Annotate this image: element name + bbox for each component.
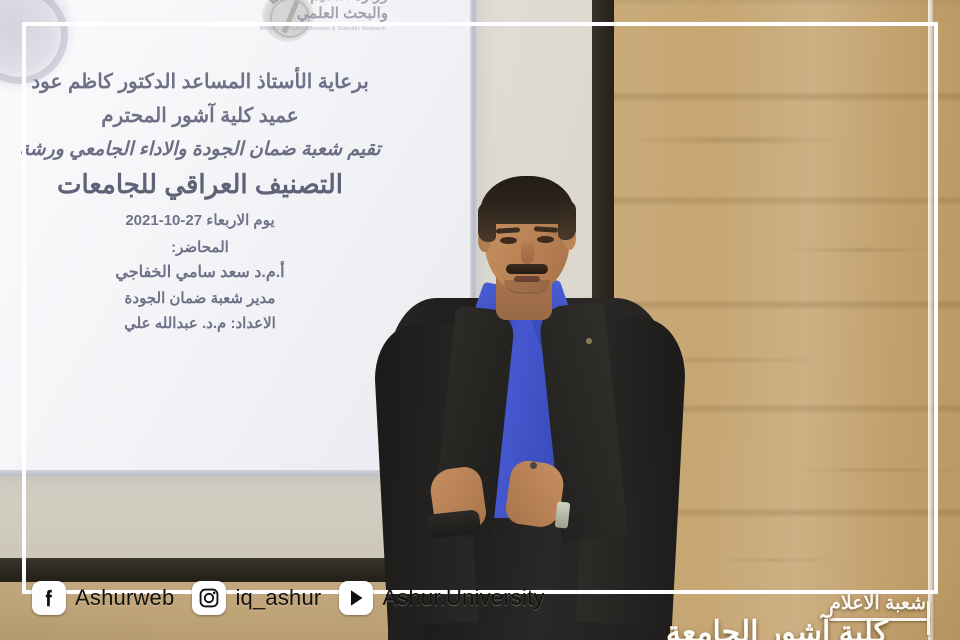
ministry-line-2: والبحث العلمي (297, 4, 388, 22)
instagram-icon[interactable] (192, 581, 226, 615)
social-item-youtube[interactable]: Ashur.University (339, 581, 544, 615)
facebook-icon[interactable] (32, 581, 66, 615)
slide-date: يوم الاربعاء 27-10-2021 (0, 213, 440, 228)
slide-lecturer-label: المحاضر: (0, 240, 440, 255)
presenter-id-badge (555, 501, 571, 528)
slide-prepared-by: الاعداد: م.د. عبدالله علي (0, 316, 440, 331)
presenter-lapel-pin (586, 338, 592, 344)
slide-dean-line: عميد كلية آشور المحترم (0, 106, 440, 126)
ministry-english-line: Ministry of Higher Education & Scientifi… (260, 26, 386, 32)
slide-title: التصنيف العراقي للجامعات (0, 171, 440, 197)
social-label-instagram: iq_ashur (235, 585, 321, 611)
frame-border-right (934, 22, 938, 594)
slide-text-body: برعاية الأستاذ المساعد الدكتور كاظم عود … (0, 72, 440, 331)
presenter-hair-side-left (478, 202, 496, 242)
social-item-facebook[interactable]: Ashurweb (32, 581, 174, 615)
presenter-eye-left (500, 237, 517, 244)
presenter-nose (521, 242, 534, 264)
slide-organizer-line: تقيم شعبة ضمان الجودة والاداء الجامعي ور… (0, 140, 440, 159)
photo-canvas: وزارة التعليم العالي والبحث العلمي Minis… (0, 0, 960, 640)
social-item-instagram[interactable]: iq_ashur (192, 581, 321, 615)
presenter-eye-right (537, 236, 554, 243)
presenter-figure (380, 176, 680, 640)
slide-host-line: برعاية الأستاذ المساعد الدكتور كاظم عود (0, 72, 440, 92)
brand-corner-tick (927, 601, 930, 635)
presenter-jacket-button (530, 462, 537, 469)
brand-college-name: كلية آشور الجامعة (666, 615, 888, 640)
slide-lecturer-name: أ.م.د سعد سامي الخفاجي (0, 265, 440, 281)
branding-block: شعبة الاعلام كلية آشور الجامعة (829, 593, 930, 622)
presenter-hair-side-right (558, 200, 576, 240)
presenter-chin-shadow (504, 280, 550, 294)
brand-department: شعبة الاعلام (829, 593, 930, 615)
social-media-bar: Ashurweb iq_ashur Ashur.University (32, 578, 563, 618)
frame-border-top (22, 22, 938, 26)
slide-lecturer-role: مدير شعبة ضمان الجودة (0, 291, 440, 306)
social-label-youtube: Ashur.University (382, 585, 544, 611)
youtube-icon[interactable] (339, 581, 373, 615)
social-label-facebook: Ashurweb (75, 585, 174, 611)
frame-border-left (22, 22, 26, 594)
presenter-moustache (506, 264, 548, 274)
